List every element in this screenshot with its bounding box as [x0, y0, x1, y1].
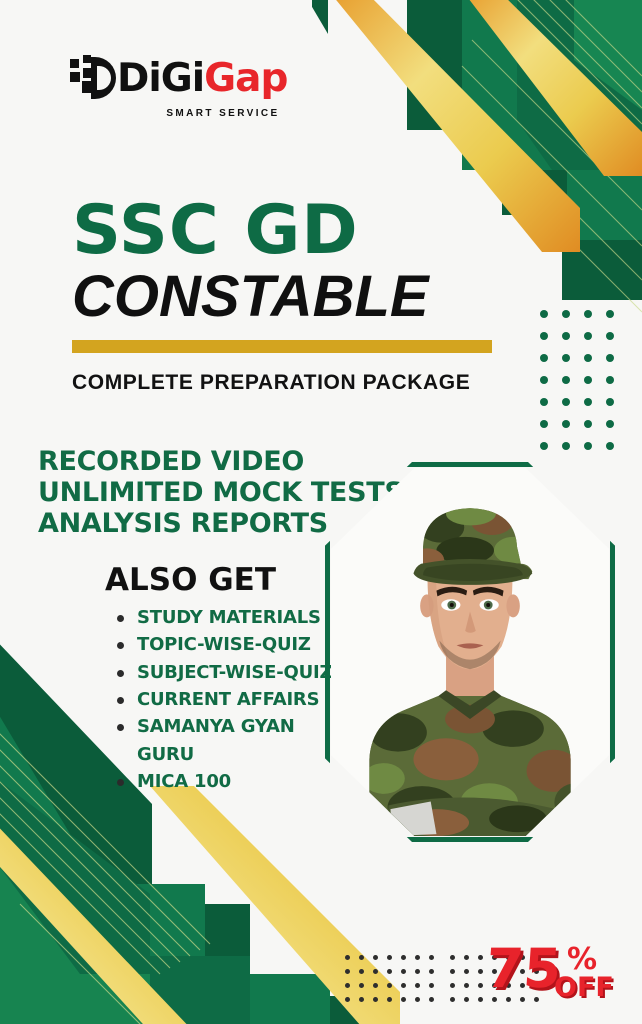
list-item: SAMANYA GYAN GURU [117, 713, 322, 768]
page-title: SSC GD [72, 198, 542, 265]
discount-number: 75 [487, 940, 563, 1000]
brand-logo[interactable]: DiGi Gap SMART SERVICE [70, 52, 320, 132]
hero-image-frame [325, 462, 615, 842]
headline-tagline: COMPLETE PREPARATION PACKAGE [72, 371, 542, 395]
dot-grid-bottom-left [345, 955, 443, 1011]
discount-badge-graphic: 75 75 % OFF OFF [487, 940, 622, 1002]
promo-poster: DiGi Gap SMART SERVICE SSC GD CONSTABLE … [0, 0, 642, 1024]
discount-badge: 75 75 % OFF OFF [487, 940, 622, 1002]
logo-tagline: SMART SERVICE [70, 108, 320, 119]
logo-text-gap: Gap [204, 59, 287, 98]
page-subtitle: CONSTABLE [72, 267, 542, 326]
hero-octagon-border [325, 462, 615, 842]
digigap-pixel-d-icon [70, 55, 116, 101]
gold-divider [72, 340, 492, 353]
discount-off-label: OFF [554, 972, 614, 1002]
headline-block: SSC GD CONSTABLE COMPLETE PREPARATION PA… [72, 198, 542, 395]
logo-text-digi: DiGi [117, 59, 204, 98]
dot-grid-right [540, 310, 628, 464]
